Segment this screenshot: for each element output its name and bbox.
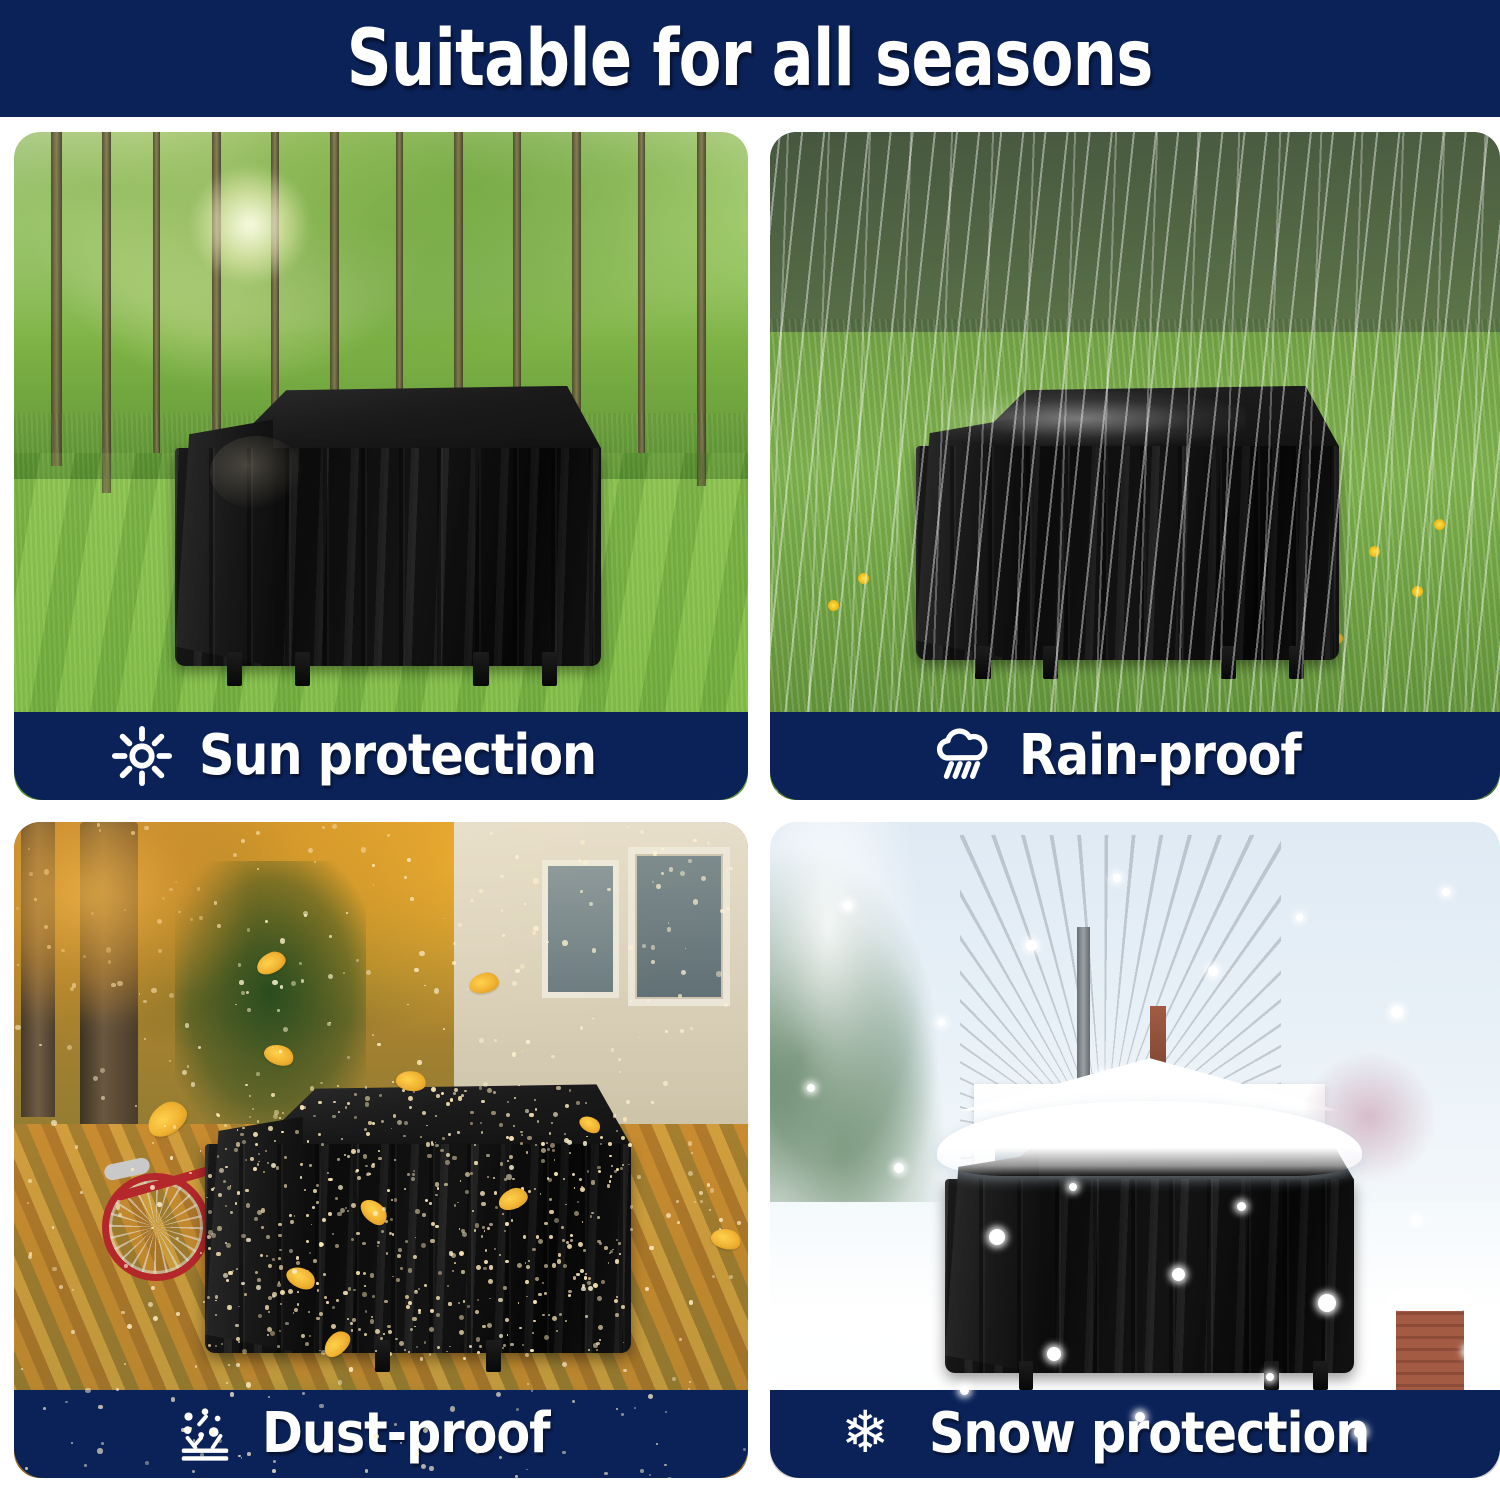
label-bar-dust-proof: Dust-proof bbox=[14, 1390, 748, 1478]
label-text-sun-protection: Sun protection bbox=[199, 728, 596, 784]
panel-dust-proof: Dust-proof bbox=[14, 822, 748, 1478]
header-bar: Suitable for all seasons bbox=[0, 0, 1500, 117]
photo-snowy-yard bbox=[770, 822, 1500, 1478]
panel-rain-proof: Rain-proof bbox=[770, 132, 1500, 800]
dust-particles-icon bbox=[174, 1403, 236, 1465]
snowflake-icon: ❄ bbox=[841, 1403, 903, 1465]
rain-cloud-icon bbox=[931, 725, 993, 787]
label-text-rain-proof: Rain-proof bbox=[1019, 728, 1301, 784]
photo-rainy-field bbox=[770, 132, 1500, 800]
panel-snow-protection: ❄ Snow protection bbox=[770, 822, 1500, 1478]
sun-icon bbox=[111, 725, 173, 787]
panel-sun-protection: Sun protection bbox=[14, 132, 748, 800]
dust-on-cover bbox=[205, 1084, 631, 1353]
label-text-snow-protection: Snow protection bbox=[929, 1406, 1369, 1462]
label-text-dust-proof: Dust-proof bbox=[262, 1406, 550, 1462]
page-title: Suitable for all seasons bbox=[347, 20, 1153, 98]
photo-autumn-yard bbox=[14, 822, 748, 1478]
product-cover bbox=[205, 1084, 631, 1353]
product-cover bbox=[945, 1124, 1354, 1373]
label-bar-snow-protection: ❄ Snow protection bbox=[770, 1390, 1500, 1478]
product-cover bbox=[916, 386, 1339, 660]
label-bar-sun-protection: Sun protection bbox=[14, 712, 748, 800]
photo-sunny-forest bbox=[14, 132, 748, 800]
label-bar-rain-proof: Rain-proof bbox=[770, 712, 1500, 800]
infographic-page: Suitable for all seasons bbox=[0, 0, 1500, 1498]
product-cover bbox=[175, 386, 601, 667]
